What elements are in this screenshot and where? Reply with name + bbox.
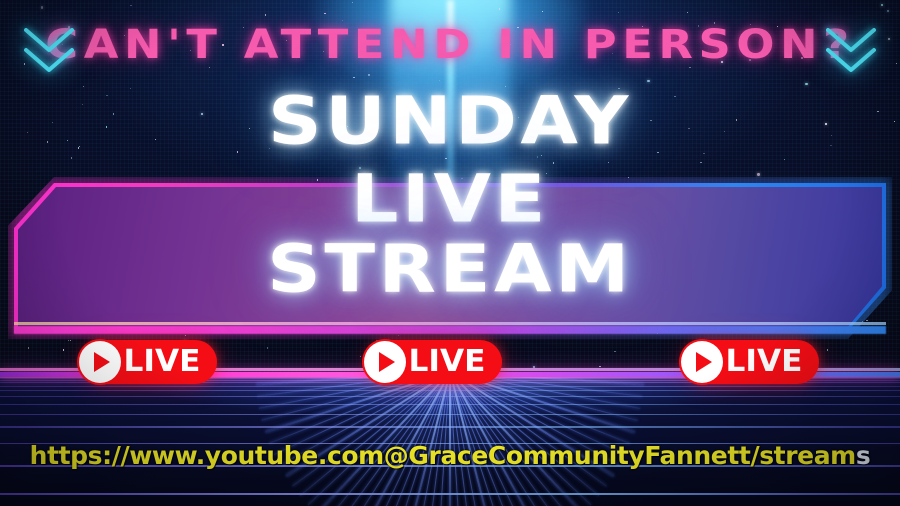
live-badge[interactable]: LIVE — [82, 340, 217, 384]
promo-graphic-canvas: CAN'T ATTEND IN PERSON? SUNDAY LIVE STRE… — [0, 0, 900, 506]
chevron-double-down-icon — [18, 20, 80, 82]
banner-bottom-bar — [14, 326, 886, 334]
perspective-grid-floor — [0, 372, 900, 506]
live-badge[interactable]: LIVE — [684, 340, 819, 384]
chevron-double-down-icon — [820, 20, 882, 82]
live-badge-label: LIVE — [409, 347, 486, 377]
play-circle-icon — [681, 341, 723, 383]
live-badge-label: LIVE — [726, 347, 803, 377]
play-circle-icon — [79, 341, 121, 383]
page-headline: CAN'T ATTEND IN PERSON? — [0, 22, 900, 68]
live-badge-label: LIVE — [124, 347, 201, 377]
play-circle-icon — [364, 341, 406, 383]
stream-url-tail: s — [856, 441, 870, 470]
title-line-sunday: SUNDAY — [0, 82, 900, 159]
stream-url-main: https://www.youtube.com@GraceCommunityFa… — [30, 441, 856, 470]
banner-bottom-highlight — [14, 322, 886, 325]
live-badge[interactable]: LIVE — [367, 340, 502, 384]
title-line-stream: STREAM — [0, 230, 900, 307]
stream-url[interactable]: https://www.youtube.com@GraceCommunityFa… — [0, 441, 900, 470]
title-line-live: LIVE — [0, 160, 900, 237]
